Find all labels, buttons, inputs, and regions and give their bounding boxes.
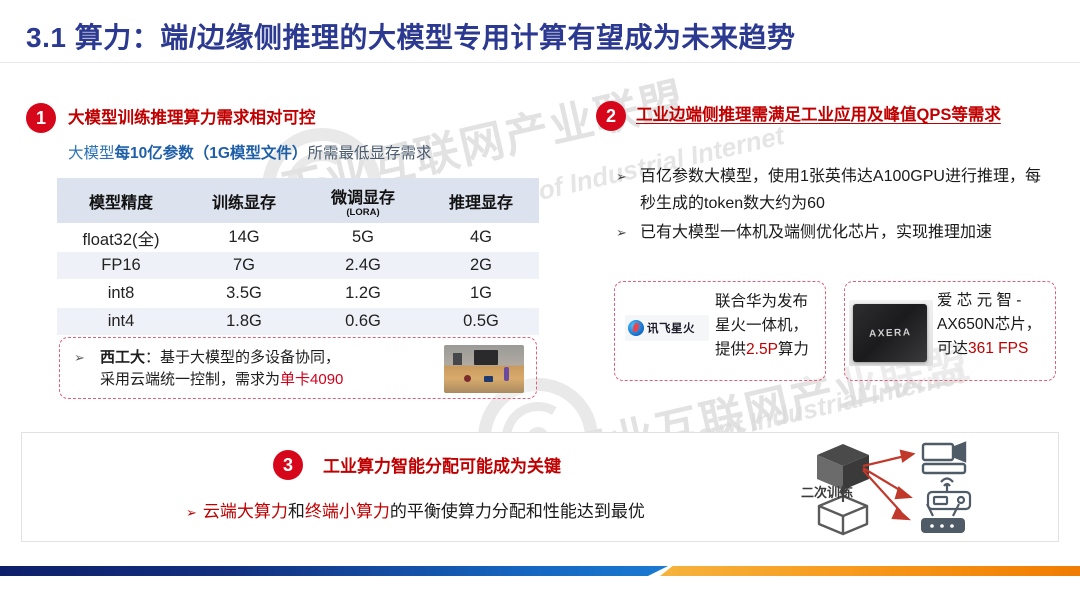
card-line3-suffix: 算力 [778,341,809,358]
statement-part-2: 和 [288,502,305,521]
xgd-note-box: ➢ 西工大：基于大模型的多设备协同， 采用云端统一控制，需求为单卡4090 [59,337,537,399]
section-1-badge: 1 [26,103,56,133]
footer-bar-orange [660,566,1080,576]
iflytek-mark-icon [628,320,644,336]
table-cell: 1.8G [185,308,303,336]
subtitle-bold: 每10亿参数（1G模型文件） [115,145,308,162]
header-label: 推理显存 [449,195,513,212]
table-cell: 1G [423,280,539,308]
card-line3-highlight: 2.5P [746,341,778,358]
statement-part-3: 终端小算力 [305,502,390,521]
table-row: FP16 7G 2.4G 2G [57,252,539,280]
table-cell: 5G [303,224,423,252]
iflytek-card: 讯飞星火 联合华为发布 星火一体机， 提供2.5P算力 [614,281,826,381]
statement-part-4: 的平衡使算力分配和性能达到最优 [390,502,645,521]
table-cell: 0.6G [303,308,423,336]
card-line3-prefix: 可达 [937,340,968,357]
bullet-arrow-icon: ➢ [186,505,197,520]
memory-spec-table: 模型精度 训练显存 微调显存 (LORA) 推理显存 float32(全) 14… [57,178,539,336]
section-2-heading: 工业边端侧推理需满足工业应用及峰值QPS等需求 [636,103,1036,128]
table-cell: 0.5G [423,308,539,336]
page-title: 3.1 算力：端/边缘侧推理的大模型专用计算有望成为未来趋势 [26,16,796,56]
xgd-note-text: 西工大：基于大模型的多设备协同， 采用云端统一控制，需求为单卡4090 [100,347,400,391]
header-sublabel: (LORA) [303,208,423,218]
xgd-line1: ：基于大模型的多设备协同， [145,349,340,366]
section-3-badge: 3 [273,450,303,480]
title-divider [0,62,1080,63]
statement-part-1: 云端大算力 [203,502,288,521]
bullet-arrow-icon: ➢ [616,219,627,246]
card-line-3: 提供2.5P算力 [715,338,821,362]
table-cell: 4G [423,224,539,252]
table-header-row: 模型精度 训练显存 微调显存 (LORA) 推理显存 [57,178,539,224]
card-line3-highlight: 361 FPS [968,340,1028,357]
bullet-text: 百亿参数大模型，使用1张英伟达A100GPU进行推理，每秒生成的token数大约… [640,168,1041,212]
table-cell: FP16 [57,252,185,280]
table-header-cell: 推理显存 [423,178,539,224]
header-label: 模型精度 [89,195,153,212]
card-line-3: 可达361 FPS [937,337,1055,361]
section-2-bullet-list: ➢ 百亿参数大模型，使用1张英伟达A100GPU进行推理，每秒生成的token数… [614,163,1044,248]
table-row: int4 1.8G 0.6G 0.5G [57,308,539,336]
camera-icon [923,443,965,473]
section-3-heading: 工业算力智能分配可能成为关键 [323,454,561,479]
footer-accent-bar [0,566,1080,576]
section-3-statement: ➢云端大算力和终端小算力的平衡使算力分配和性能达到最优 [186,497,645,522]
axera-card-text: 爱 芯 元 智 - AX650N芯片， 可达361 FPS [937,289,1055,361]
header-label: 微调显存 [331,190,395,207]
card-line-2: 星火一体机， [715,314,821,338]
iflytek-logo-text: 讯飞星火 [647,320,695,336]
list-item: ➢ 已有大模型一体机及端侧优化芯片，实现推理加速 [614,219,1044,246]
distribution-arrows-icon [863,451,913,519]
bullet-text: 已有大模型一体机及端侧优化芯片，实现推理加速 [640,224,992,241]
axera-chip-image: AXERA [853,304,927,362]
xgd-line2: 采用云端统一控制，需求为 [100,371,280,388]
section-1-heading: 大模型训练推理算力需求相对可控 [68,106,316,131]
table-cell: int4 [57,308,185,336]
table-cell: 14G [185,224,303,252]
subtitle-prefix: 大模型 [68,145,115,162]
chip-label: AXERA [869,327,912,339]
iflytek-card-text: 联合华为发布 星火一体机， 提供2.5P算力 [715,290,821,362]
table-header-cell: 模型精度 [57,178,185,224]
bullet-arrow-icon: ➢ [616,163,627,190]
header-label: 训练显存 [212,195,276,212]
table-cell: float32(全) [57,224,185,252]
card-line3-prefix: 提供 [715,341,746,358]
bullet-arrow-icon: ➢ [74,350,85,366]
diagram-caption: 二次训练 [801,482,853,501]
section-2-badge: 2 [596,101,626,131]
table-cell: 2.4G [303,252,423,280]
table-cell: 2G [423,252,539,280]
table-cell: 1.2G [303,280,423,308]
iflytek-logo-icon: 讯飞星火 [625,315,709,341]
section-1-subtitle: 大模型每10亿参数（1G模型文件）所需最低显存需求 [68,141,431,163]
table-cell: 7G [185,252,303,280]
table-row: float32(全) 14G 5G 4G [57,224,539,252]
footer-bar-blue [0,566,668,576]
xgd-highlight: 单卡4090 [280,371,343,388]
subtitle-suffix: 所需最低显存需求 [307,145,431,162]
card-line-1: 联合华为发布 [715,290,821,314]
axera-card: AXERA 爱 芯 元 智 - AX650N芯片， 可达361 FPS [844,281,1056,381]
table-cell: int8 [57,280,185,308]
gateway-icon [928,479,970,510]
table-header-cell: 微调显存 (LORA) [303,178,423,224]
card-line-1: 爱 芯 元 智 - [937,289,1055,313]
compute-allocation-diagram: 二次训练 [795,440,1045,536]
table-row: int8 3.5G 1.2G 1G [57,280,539,308]
desk-photo-thumbnail [444,345,524,393]
xgd-org-name: 西工大 [100,349,145,366]
card-line-2: AX650N芯片， [937,313,1055,337]
list-item: ➢ 百亿参数大模型，使用1张英伟达A100GPU进行推理，每秒生成的token数… [614,163,1044,217]
table-header-cell: 训练显存 [185,178,303,224]
slide-canvas: 工业互联网产业联盟 Alliance of Industrial Interne… [0,0,1080,608]
table-cell: 3.5G [185,280,303,308]
